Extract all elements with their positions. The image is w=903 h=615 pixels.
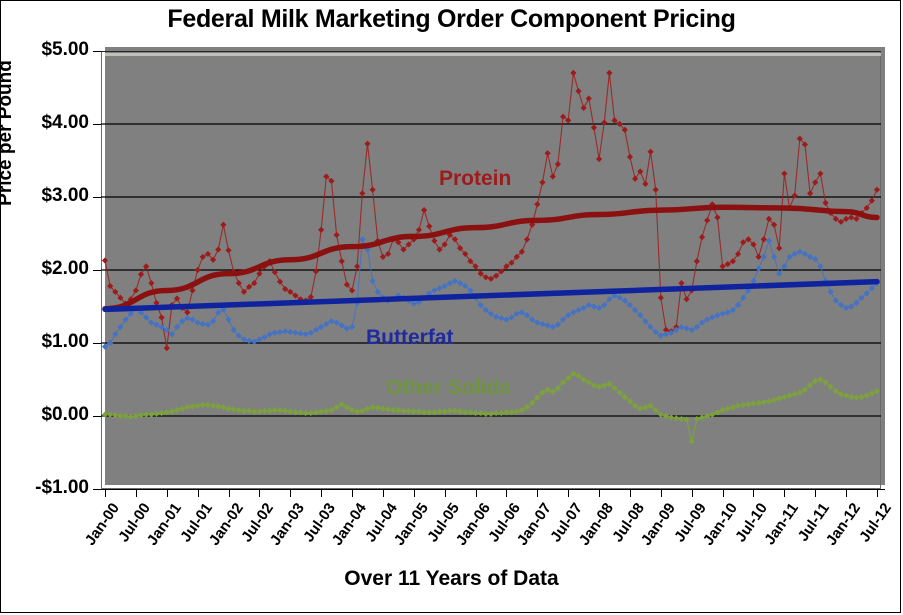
series-label-protein: Protein [439, 167, 511, 191]
y-tick-label: $0.00 [1, 404, 89, 426]
x-tick-mark [846, 489, 847, 497]
x-tick-mark [630, 489, 631, 497]
x-tick-mark [815, 489, 816, 497]
trendline-butterfat-trend [105, 282, 877, 310]
x-tick-mark [661, 489, 662, 497]
y-tick-label: $5.00 [1, 39, 89, 61]
y-tick-label: -$1.00 [1, 477, 89, 499]
y-tick-mark [93, 343, 101, 344]
plot-svg [101, 51, 881, 489]
x-tick-mark [167, 489, 168, 497]
series-label-other-solids: Other Solids [386, 376, 511, 400]
x-tick-mark [568, 489, 569, 497]
x-tick-mark [136, 489, 137, 497]
y-tick-label: $2.00 [1, 258, 89, 280]
y-tick-mark [93, 51, 101, 52]
chart-container: Federal Milk Marketing Order Component P… [0, 0, 901, 613]
x-tick-mark [321, 489, 322, 497]
x-tick-mark [692, 489, 693, 497]
x-tick-mark [537, 489, 538, 497]
x-tick-mark [259, 489, 260, 497]
y-tick-mark [93, 124, 101, 125]
chart-title: Federal Milk Marketing Order Component P… [1, 5, 902, 34]
x-tick-mark [753, 489, 754, 497]
x-tick-mark [229, 489, 230, 497]
y-tick-label: $3.00 [1, 185, 89, 207]
y-tick-label: $4.00 [1, 112, 89, 134]
x-tick-mark [105, 489, 106, 497]
x-axis-title: Over 11 Years of Data [1, 567, 902, 591]
x-tick-mark [414, 489, 415, 497]
x-tick-mark [352, 489, 353, 497]
y-tick-mark [93, 197, 101, 198]
x-tick-mark [290, 489, 291, 497]
x-tick-mark [506, 489, 507, 497]
x-tick-mark [599, 489, 600, 497]
x-tick-mark [723, 489, 724, 497]
y-tick-mark [93, 416, 101, 417]
series-label-butterfat: Butterfat [366, 326, 454, 350]
y-tick-mark [93, 270, 101, 271]
x-tick-mark [476, 489, 477, 497]
x-tick-mark [198, 489, 199, 497]
x-axis-line [93, 489, 885, 490]
x-tick-mark [383, 489, 384, 497]
x-tick-mark [877, 489, 878, 497]
x-tick-mark [784, 489, 785, 497]
y-tick-label: $1.00 [1, 331, 89, 353]
plot-wrapper: Protein Butterfat Other Solids [101, 51, 881, 489]
x-tick-mark [445, 489, 446, 497]
